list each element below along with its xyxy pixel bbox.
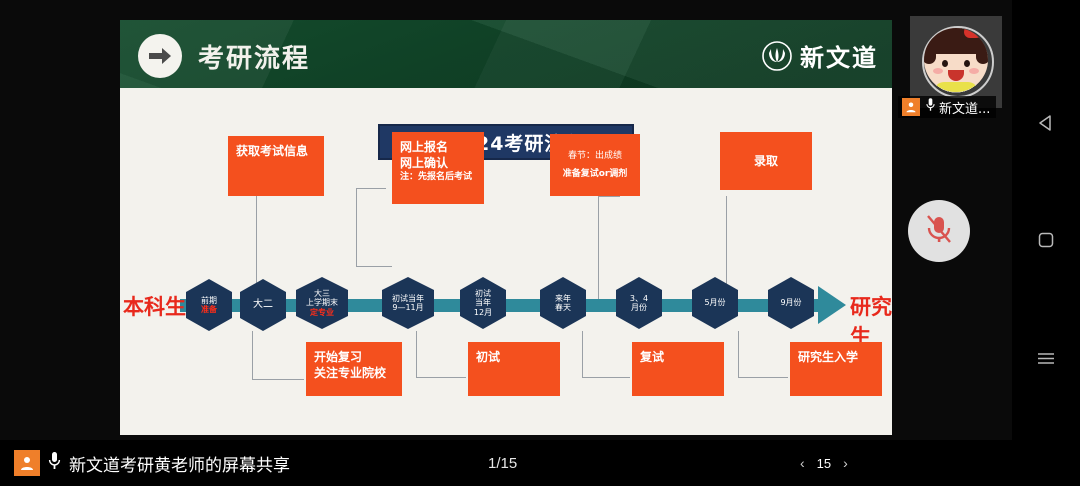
box-line: 网上确认 [400,155,476,171]
box-line: 开始复习 [314,349,394,365]
recents-button[interactable] [1012,340,1080,380]
page-indicator: 1/15 [488,440,517,486]
timeline-arrow-icon [818,286,846,324]
brand-name: 新文道 [800,38,878,73]
box-note: 注：先报名后考试 [400,171,476,183]
flow-box-bottom: 研究生入学 [790,342,882,396]
box-line: 录取 [754,153,778,169]
webcam-video [910,16,1002,108]
box-line: 春节：出成绩 [568,150,622,162]
flow-box-top: 网上报名 网上确认 注：先报名后考试 [392,132,484,204]
timeline-node: 9月份 [768,277,814,329]
slide-canvas[interactable]: 考研流程 新文道 23、24考研流程 [120,20,892,435]
node-line: 来年 [555,294,571,303]
flow-box-bottom: 开始复习 关注专业院校 [306,342,402,396]
node-line: 大三 [314,289,330,298]
pager-next-button[interactable]: › [843,455,848,471]
slide-header: 考研流程 新文道 [120,20,892,88]
webcam-thumbnail[interactable] [910,16,1002,108]
user-icon [902,98,920,116]
screen-share-area: 考研流程 新文道 23、24考研流程 [0,0,1012,486]
node-line: 12月 [474,308,492,317]
connector [738,331,740,377]
node-line: 9月份 [780,298,801,307]
avatar-eye-left [942,60,948,67]
node-line: 当年 [475,298,491,307]
node-line: 准备 [201,305,217,314]
timeline-node: 大二 [240,279,286,331]
avatar-collar [934,82,978,92]
connector [598,196,620,198]
connector [356,188,358,266]
node-line: 5月份 [704,298,725,307]
avatar [924,28,988,92]
box-line: 获取考试信息 [236,143,316,159]
phoenix-logo-icon [762,41,792,71]
meeting-screen: 考研流程 新文道 23、24考研流程 [0,0,1080,486]
node-line: 上学期末 [306,298,338,307]
node-line: 9—11月 [392,303,423,312]
connector [738,377,788,379]
back-triangle-icon [1037,114,1055,137]
timeline-node: 5月份 [692,277,738,329]
node-line: 初试 [475,289,491,298]
home-square-icon [1037,231,1055,254]
microphone-icon [925,97,936,117]
slide-title: 考研流程 [198,38,310,75]
node-line: 3、4 [630,294,648,303]
bottom-bar: 新文道考研黄老师的屏幕共享 1/15 ‹ 15 › [0,440,1012,486]
microphone-icon [47,451,62,475]
avatar-bow [964,28,982,38]
box-line: 关注专业院校 [314,365,394,381]
arrow-right-icon [138,34,182,78]
avatar-blush-left [933,68,943,74]
box-line: 初试 [476,349,552,365]
box-line: 复试 [640,349,716,365]
recents-menu-icon [1036,351,1056,370]
node-line: 春天 [555,303,571,312]
node-line: 月份 [631,303,647,312]
timeline-node: 大三 上学期末 定专业 [296,277,348,329]
microphone-muted-button[interactable] [908,200,970,262]
connector [252,331,254,379]
pager-value: 15 [817,456,831,471]
box-line: 研究生入学 [798,349,874,365]
system-nav-bar [1012,0,1080,486]
timeline-node: 初试当年 9—11月 [382,277,434,329]
avatar-blush-right [969,68,979,74]
box-line: 网上报名 [400,139,476,155]
node-line: 大二 [253,299,273,311]
connector [356,266,392,268]
flow-box-top: 获取考试信息 [228,136,324,196]
webcam-name-label: 新文道... [898,96,996,118]
timeline-start-label: 本科生 [123,291,186,321]
connector [416,331,418,377]
timeline-node: 初试 当年 12月 [460,277,506,329]
node-line: 定专业 [310,308,334,317]
avatar-mouth [948,70,964,81]
connector [582,331,584,377]
avatar-eye-right [964,60,970,67]
connector [598,196,600,300]
brand-logo: 新文道 [762,38,878,73]
box-note: 准备复试or调剂 [563,168,628,180]
home-button[interactable] [1012,222,1080,262]
flow-box-top: 录取 [720,132,812,190]
microphone-muted-icon [922,212,956,251]
user-icon [14,450,40,476]
connector [252,379,304,381]
timeline-node: 3、4 月份 [616,277,662,329]
back-button[interactable] [1012,105,1080,145]
flow-box-bottom: 复试 [632,342,724,396]
share-status: 新文道考研黄老师的屏幕共享 [14,440,290,486]
slide-body: 23、24考研流程 [120,88,892,435]
node-line: 初试当年 [392,294,424,303]
share-status-text: 新文道考研黄老师的屏幕共享 [69,451,290,476]
flow-box-bottom: 初试 [468,342,560,396]
flow-box-top: 春节：出成绩 准备复试or调剂 [550,134,640,196]
pager[interactable]: ‹ 15 › [800,452,848,474]
timeline-node: 前期 准备 [186,279,232,331]
connector [356,188,386,190]
connector [416,377,466,379]
connector [582,377,630,379]
timeline-node: 来年 春天 [540,277,586,329]
webcam-name: 新文道... [939,98,990,117]
node-line: 前期 [201,296,217,305]
pager-prev-button[interactable]: ‹ [800,455,805,471]
